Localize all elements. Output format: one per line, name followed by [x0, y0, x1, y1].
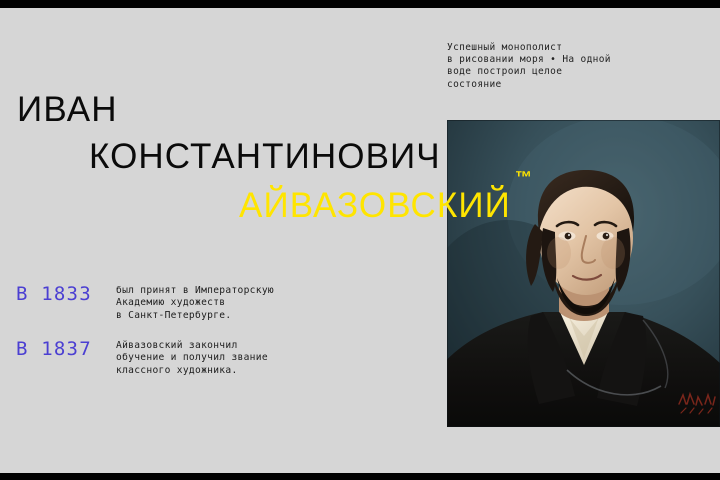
portrait-image [447, 120, 720, 427]
timeline-entry: В 1833 был принят в Императорскую Академ… [16, 284, 436, 322]
timeline-entry-text: Айвазовский закончил обучение и получил … [116, 339, 436, 377]
name-middle: КОНСТАНТИНОВИЧ [89, 137, 441, 177]
letterbox-bar-bottom [0, 473, 720, 480]
name-first: ИВАН [17, 90, 118, 130]
tagline-text: Успешный монополист в рисовании моря • Н… [447, 42, 713, 91]
timeline-entry-year: В 1833 [16, 284, 116, 304]
timeline-entry-year: В 1837 [16, 339, 116, 359]
timeline-entry-text: был принят в Императорскую Академию худо… [116, 284, 436, 322]
letterbox-bar-top [0, 0, 720, 8]
trademark-symbol: ™ [515, 168, 533, 188]
name-last: АЙВАЗОВСКИЙ [239, 186, 511, 226]
timeline-entry: В 1837 Айвазовский закончил обучение и п… [16, 339, 436, 377]
slide-canvas: Успешный монополист в рисовании моря • Н… [0, 0, 720, 480]
